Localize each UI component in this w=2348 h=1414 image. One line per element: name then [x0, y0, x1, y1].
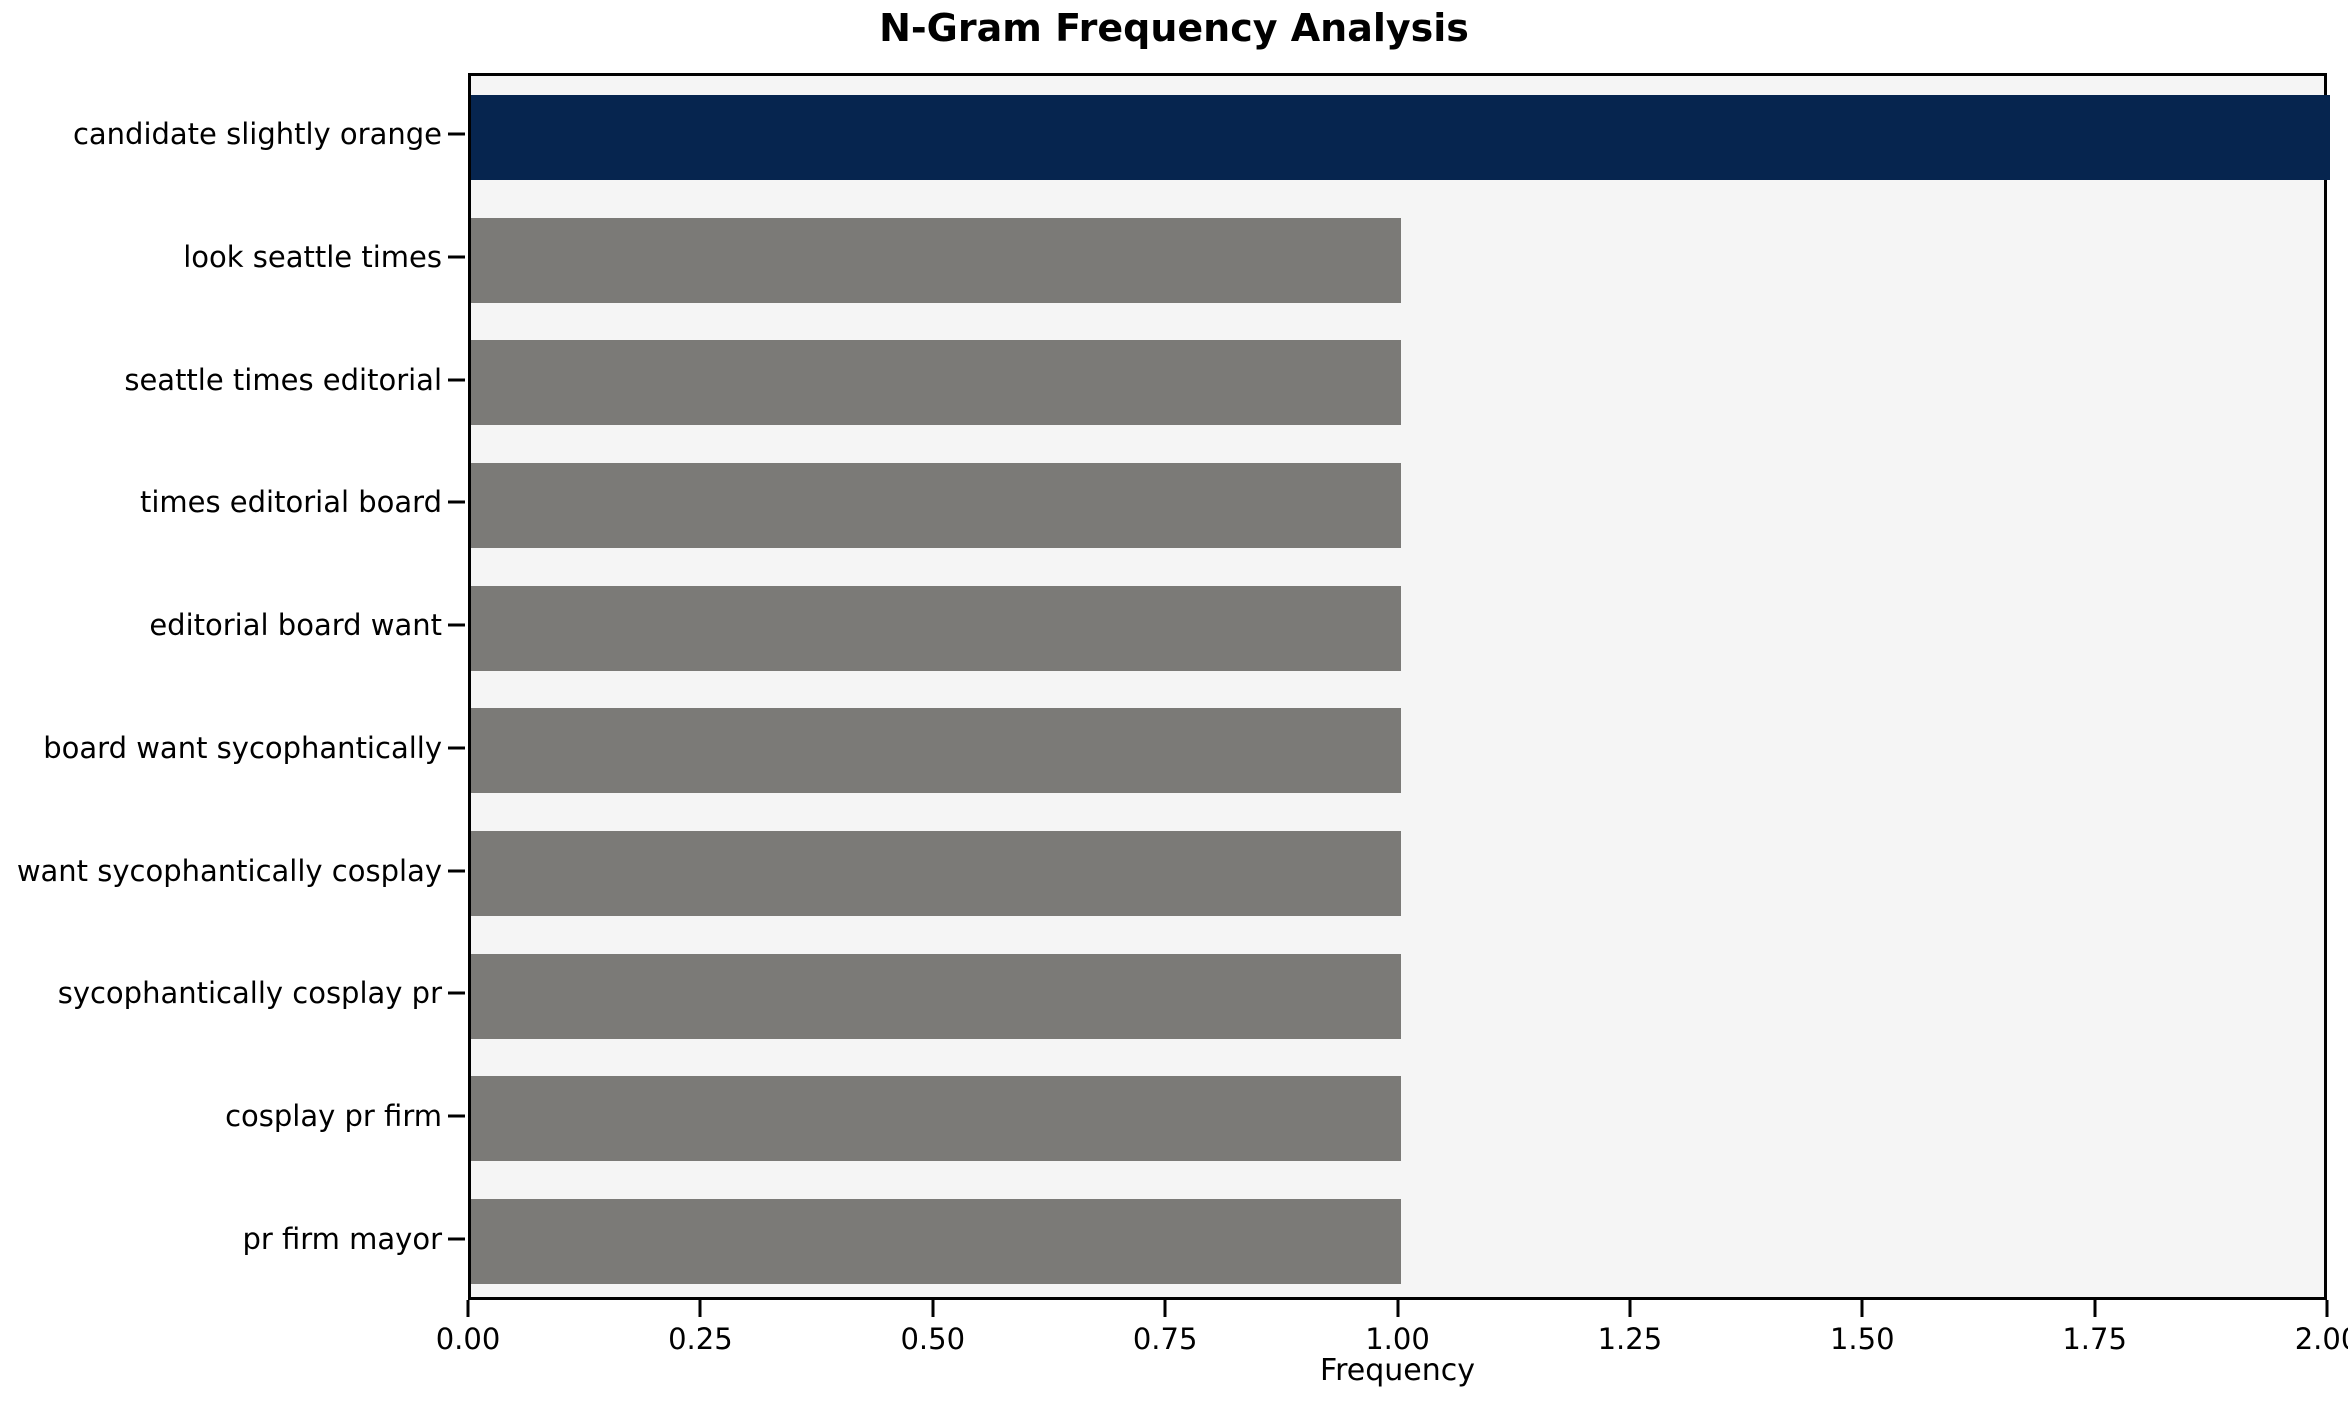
- x-tick-mark: [467, 1300, 470, 1317]
- y-tick-label: times editorial board: [140, 485, 442, 519]
- y-tick-label: look seattle times: [183, 240, 442, 274]
- bar: [471, 95, 2330, 180]
- y-tick-label: board want sycophantically: [43, 731, 442, 765]
- x-tick-mark: [2326, 1300, 2329, 1317]
- x-tick-mark: [1164, 1300, 1167, 1317]
- x-tick-mark: [699, 1300, 702, 1317]
- page-title: N-Gram Frequency Analysis: [0, 6, 2348, 50]
- y-axis: candidate slightly orangelook seattle ti…: [0, 73, 468, 1300]
- bar: [471, 218, 1401, 303]
- bar: [471, 463, 1401, 548]
- x-tick-label: 0.75: [1133, 1322, 1198, 1356]
- x-tick-label: 0.25: [668, 1322, 733, 1356]
- x-axis-label: Frequency: [468, 1353, 2327, 1388]
- y-tick-label: pr firm mayor: [242, 1222, 442, 1256]
- x-tick-mark: [1396, 1300, 1399, 1317]
- x-tick-label: 1.75: [2062, 1322, 2127, 1356]
- y-tick-mark: [448, 992, 465, 995]
- bar: [471, 708, 1401, 793]
- bar: [471, 1076, 1401, 1161]
- y-tick-mark: [448, 869, 465, 872]
- y-tick-mark: [448, 746, 465, 749]
- bar: [471, 586, 1401, 671]
- chart-figure: N-Gram Frequency Analysis candidate slig…: [0, 0, 2348, 1414]
- bars-layer: [471, 76, 2324, 1297]
- x-tick-label: 2.00: [2295, 1322, 2348, 1356]
- y-tick-label: editorial board want: [149, 608, 442, 642]
- x-tick-label: 1.50: [1830, 1322, 1895, 1356]
- x-tick-mark: [931, 1300, 934, 1317]
- x-tick-label: 0.00: [436, 1322, 501, 1356]
- bar: [471, 831, 1401, 916]
- x-tick-mark: [1628, 1300, 1631, 1317]
- x-tick-mark: [2093, 1300, 2096, 1317]
- y-tick-mark: [448, 501, 465, 504]
- x-tick-label: 0.50: [900, 1322, 965, 1356]
- y-tick-mark: [448, 624, 465, 627]
- y-tick-label: want sycophantically cosplay: [17, 854, 442, 888]
- x-tick-label: 1.25: [1598, 1322, 1663, 1356]
- plot-area: [468, 73, 2327, 1300]
- x-tick-label: 1.00: [1365, 1322, 1430, 1356]
- y-tick-label: cosplay pr firm: [225, 1099, 442, 1133]
- bar: [471, 954, 1401, 1039]
- bar: [471, 340, 1401, 425]
- y-tick-mark: [448, 256, 465, 259]
- y-tick-mark: [448, 378, 465, 381]
- x-tick-mark: [1861, 1300, 1864, 1317]
- y-tick-label: seattle times editorial: [124, 363, 442, 397]
- y-tick-label: candidate slightly orange: [73, 117, 442, 151]
- y-tick-label: sycophantically cosplay pr: [58, 976, 442, 1010]
- y-tick-mark: [448, 133, 465, 136]
- bar: [471, 1199, 1401, 1284]
- y-tick-mark: [448, 1237, 465, 1240]
- y-tick-mark: [448, 1114, 465, 1117]
